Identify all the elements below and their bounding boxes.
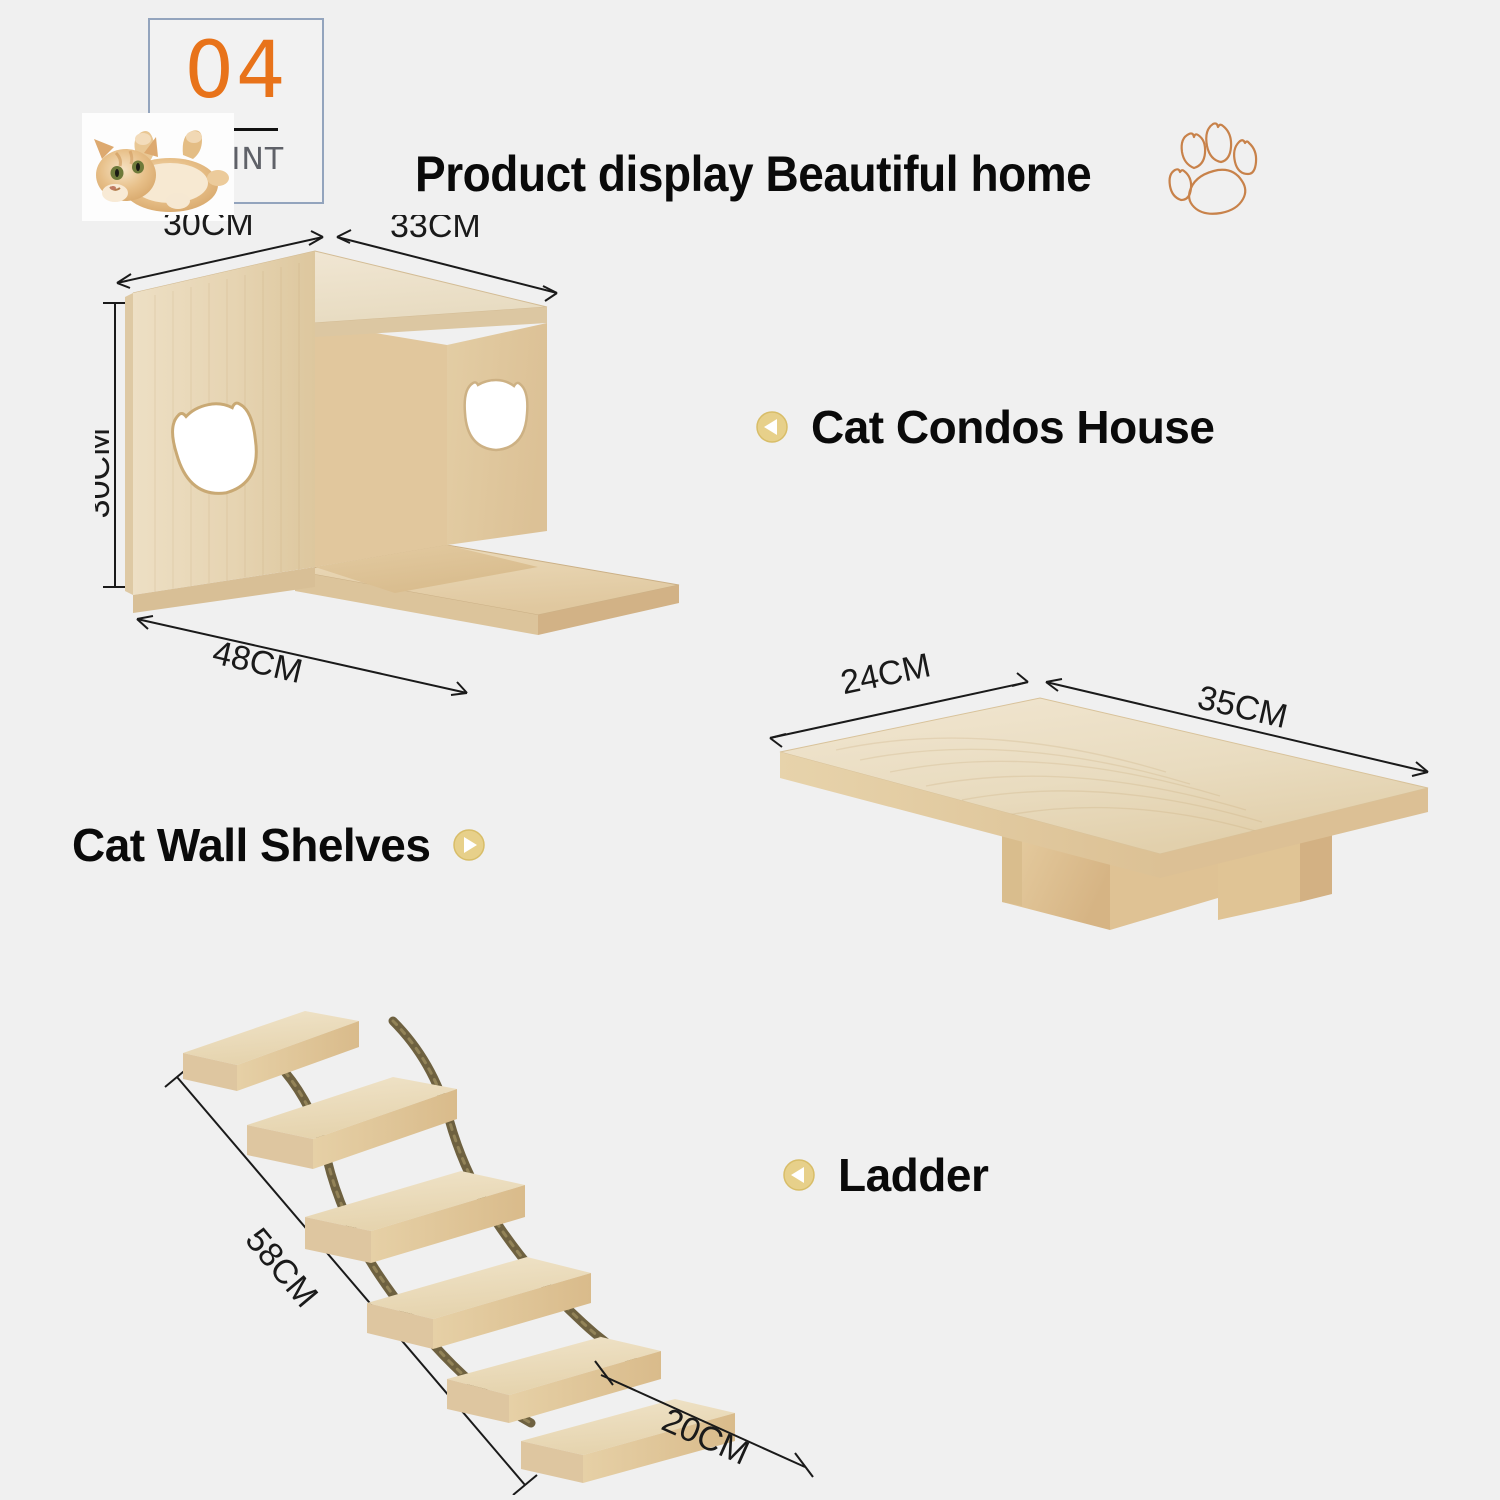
dimension-label: 24CM (837, 646, 934, 702)
cat-condo-house-illustration: 30CM 30CM 33CM (95, 215, 695, 725)
dimension-label: 30CM (95, 428, 117, 519)
ladder-slat (447, 1337, 661, 1423)
dimension-label: 48CM (209, 634, 306, 691)
triangle-left-icon (782, 1158, 816, 1192)
point-badge: 04 POINT (40, 10, 330, 210)
triangle-left-icon (755, 410, 789, 444)
product-label-ladder: Ladder (782, 1148, 988, 1202)
product-display-infographic: 04 POINT (0, 0, 1500, 1500)
product-label-text: Cat Condos House (811, 400, 1214, 454)
ladder-illustration: 58CM (155, 985, 855, 1495)
ladder-slat (247, 1077, 457, 1169)
kitten-photo (82, 113, 234, 221)
product-label-text: Ladder (838, 1148, 988, 1202)
triangle-right-icon (452, 828, 486, 862)
ladder-slat (367, 1257, 591, 1349)
paw-print-icon (1164, 118, 1268, 230)
ladder-slat (183, 1011, 359, 1091)
badge-number: 04 (150, 32, 322, 110)
cat-wall-shelf-illustration: 24CM 35CM (740, 640, 1460, 980)
header: Product display Beautiful home (415, 118, 1268, 230)
product-label-cat-wall-shelves: Cat Wall Shelves (72, 818, 486, 872)
product-label-cat-condos-house: Cat Condos House (755, 400, 1214, 454)
product-label-text: Cat Wall Shelves (72, 818, 430, 872)
page-title: Product display Beautiful home (415, 145, 1091, 203)
dimension-label: 33CM (390, 215, 481, 245)
dimension-label: 30CM (163, 215, 254, 243)
